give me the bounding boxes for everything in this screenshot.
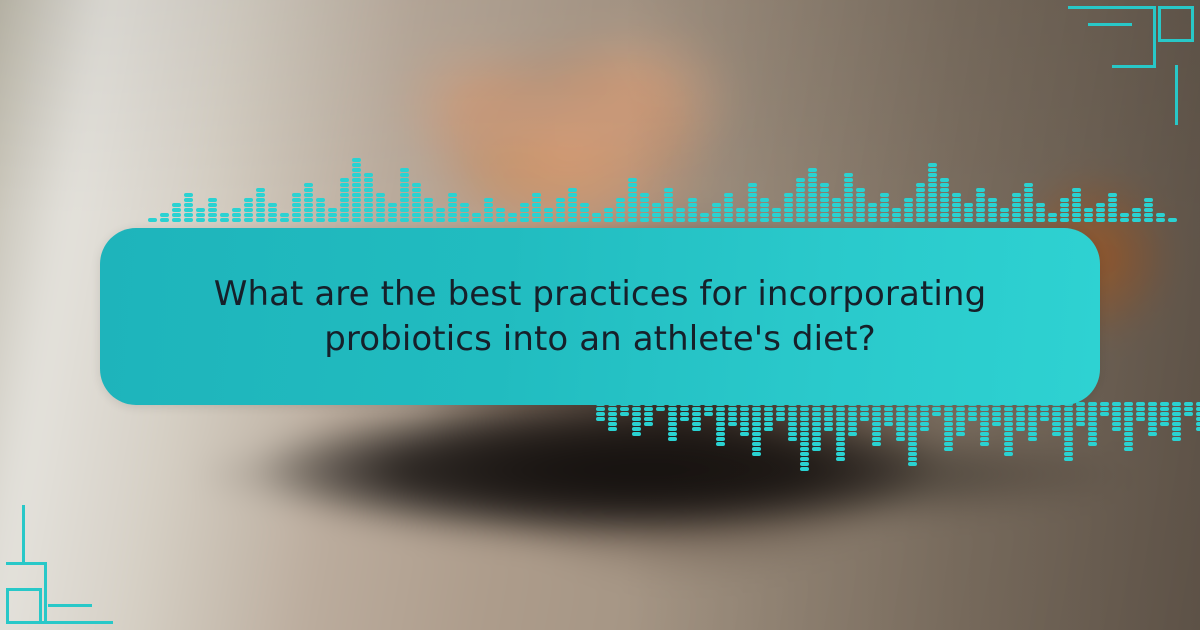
screenshot-canvas: What are the best practices for incorpor… [0,0,1200,630]
question-card: What are the best practices for incorpor… [100,228,1100,405]
question-text: What are the best practices for incorpor… [205,272,995,362]
